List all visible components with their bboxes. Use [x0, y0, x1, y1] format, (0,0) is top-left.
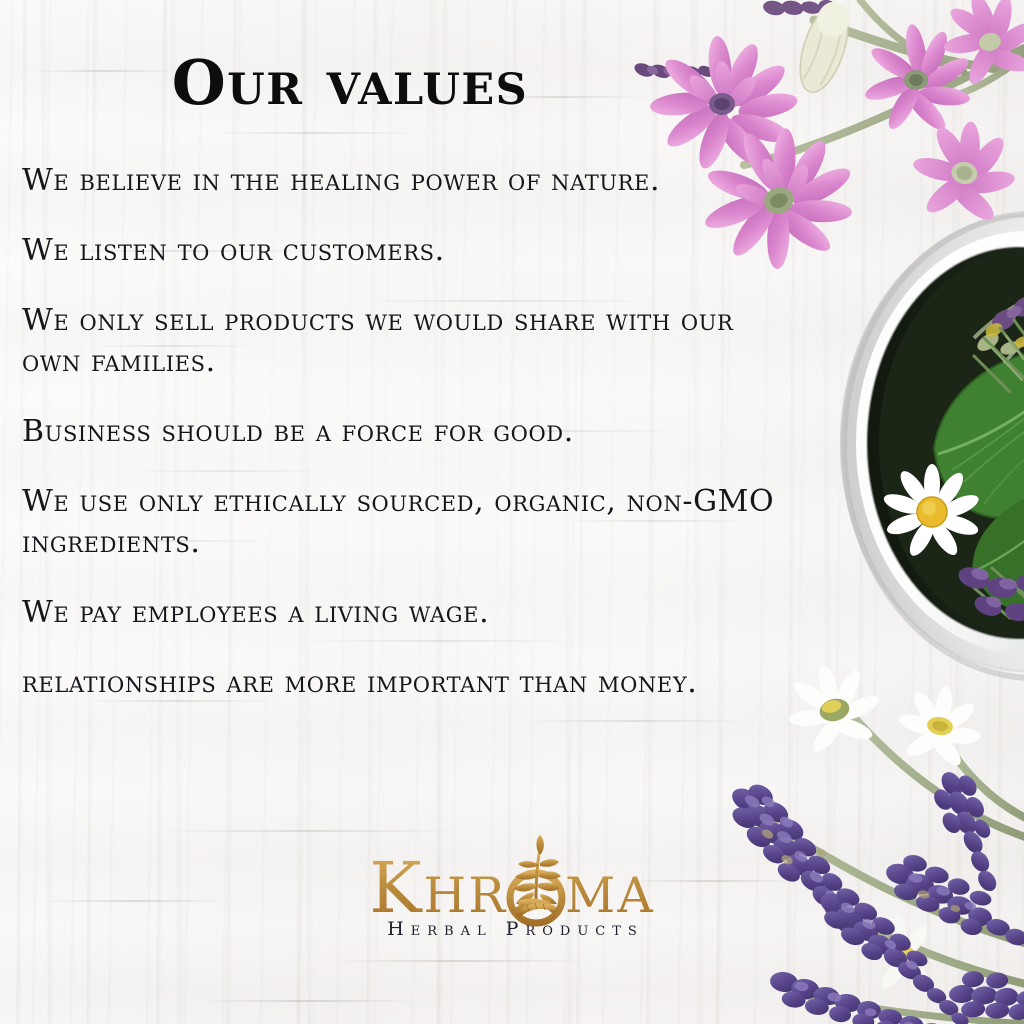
logo-wordmark: Khr: [369, 852, 654, 924]
logo-text-first: Khr: [369, 852, 507, 924]
lavender-decoration: [724, 664, 1024, 1024]
mortar-bowl-with-herbs: [814, 228, 1024, 658]
logo-text-last: ma: [565, 852, 655, 924]
poster-canvas: Our values We believe in the healing pow…: [0, 0, 1024, 1024]
value-item: We only sell products we would share wit…: [22, 300, 782, 382]
page-title: Our values: [0, 52, 700, 114]
brand-logo: Khr: [0, 852, 1024, 940]
value-item: Business should be a force for good.: [22, 411, 782, 452]
value-item: We use only ethically sourced, organic, …: [22, 481, 782, 563]
pink-flowers-decoration: [624, 0, 1024, 270]
value-item: We pay employees a living wage.: [22, 592, 782, 633]
herb-wreath-o-icon: [505, 852, 567, 924]
value-item: relationships are more important than mo…: [22, 662, 782, 703]
